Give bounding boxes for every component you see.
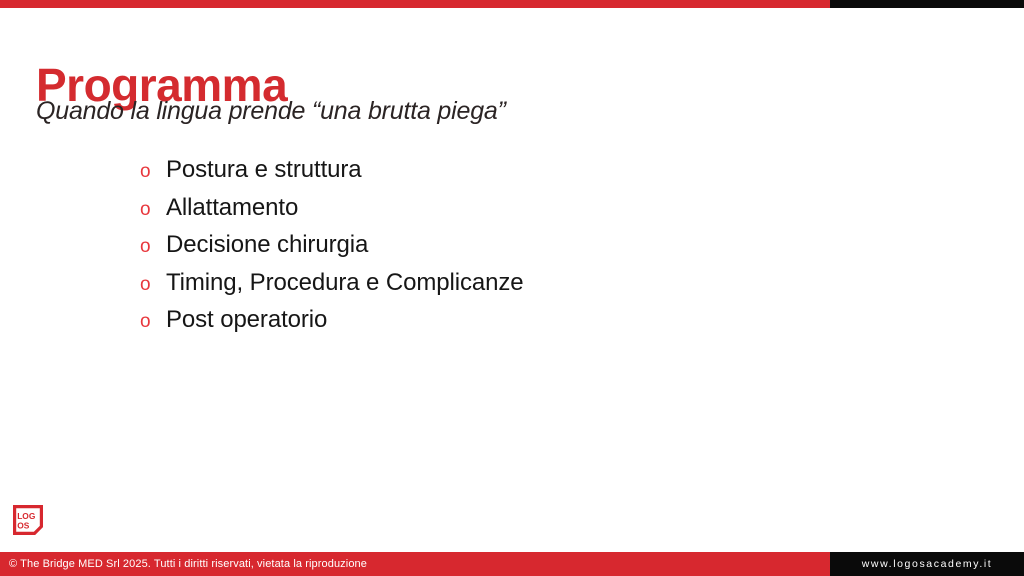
logos-logo-icon: LOG OS xyxy=(13,505,43,535)
circle-bullet-icon: o xyxy=(140,200,166,219)
list-item-label: Timing, Procedura e Complicanze xyxy=(166,271,524,295)
circle-bullet-icon: o xyxy=(140,237,166,256)
list-item-label: Post operatorio xyxy=(166,308,327,332)
list-item: o Postura e struttura xyxy=(140,158,524,196)
footer-website-text: www.logosacademy.it xyxy=(862,558,993,570)
circle-bullet-icon: o xyxy=(140,312,166,331)
slide-canvas: Programma Quando la lingua prende “una b… xyxy=(0,0,1024,576)
top-accent-bar xyxy=(0,0,1024,8)
footer-copyright-region: © The Bridge MED Srl 2025. Tutti i dirit… xyxy=(0,552,830,576)
agenda-list: o Postura e struttura o Allattamento o D… xyxy=(140,158,524,346)
list-item-label: Allattamento xyxy=(166,196,298,220)
footer-copyright-text: © The Bridge MED Srl 2025. Tutti i dirit… xyxy=(0,558,367,570)
list-item-label: Postura e struttura xyxy=(166,158,362,182)
page-subtitle: Quando la lingua prende “una brutta pieg… xyxy=(36,97,506,126)
list-item: o Timing, Procedura e Complicanze xyxy=(140,271,524,309)
circle-bullet-icon: o xyxy=(140,162,166,181)
footer-bar: © The Bridge MED Srl 2025. Tutti i dirit… xyxy=(0,552,1024,576)
list-item: o Post operatorio xyxy=(140,308,524,346)
top-accent-bar-black-segment xyxy=(830,0,1024,8)
logo-text-line2: OS xyxy=(17,520,30,530)
list-item: o Allattamento xyxy=(140,196,524,234)
list-item-label: Decisione chirurgia xyxy=(166,233,368,257)
list-item: o Decisione chirurgia xyxy=(140,233,524,271)
top-accent-bar-red-segment xyxy=(0,0,830,8)
circle-bullet-icon: o xyxy=(140,275,166,294)
logos-logo: LOG OS xyxy=(13,505,43,535)
footer-website-region: www.logosacademy.it xyxy=(830,552,1024,576)
